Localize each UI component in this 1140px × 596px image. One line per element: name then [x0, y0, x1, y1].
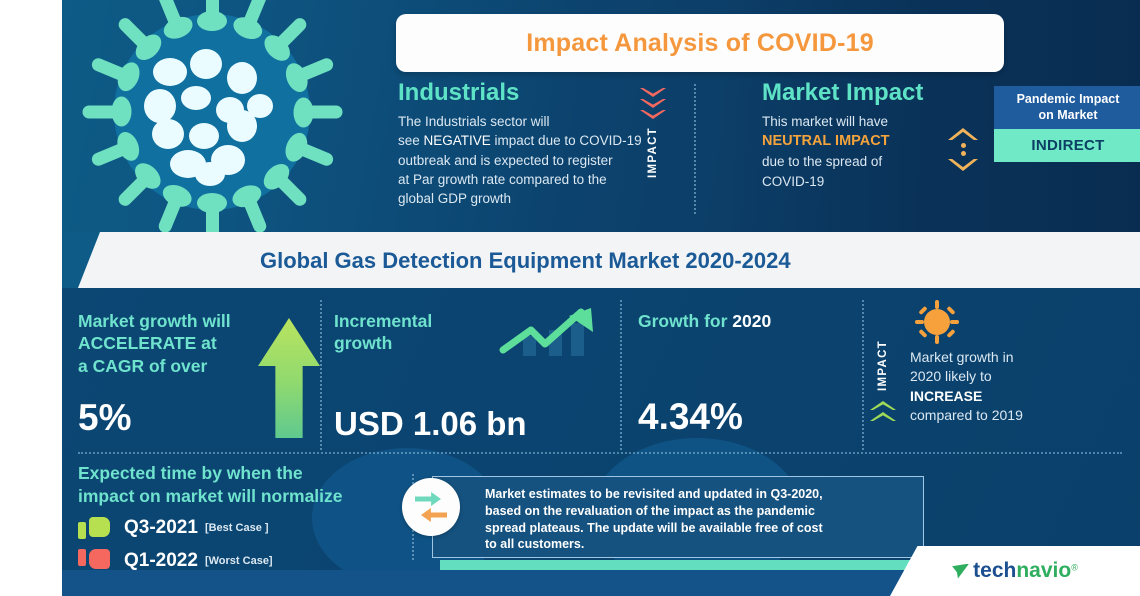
virus-spike — [293, 140, 335, 167]
stat-growth-value: 4.34% — [638, 398, 888, 435]
impact-note-line-4: compared to 2019 — [910, 406, 1120, 425]
virus-spike — [240, 0, 267, 31]
virus-dot — [227, 62, 257, 94]
normalize-row-best: Q3-2021 [Best Case ] — [78, 515, 343, 541]
stat-growth-line-1: Growth for — [638, 311, 732, 331]
normalize-best-case: [Best Case ] — [205, 522, 269, 534]
impact-note-block: Market growth in 2020 likely to INCREASE… — [910, 348, 1120, 425]
virus-spike — [89, 140, 131, 167]
virus-spike — [156, 193, 183, 235]
stat-cagr-line-1: Market growth will — [78, 310, 308, 332]
virus-spike — [89, 56, 131, 83]
impact-strip-bottom: IMPACT — [870, 340, 896, 421]
note-box: Market estimates to be revisited and upd… — [432, 476, 924, 558]
stat-cagr: Market growth will ACCELERATE at a CAGR … — [78, 310, 308, 436]
virus-spike — [82, 106, 122, 119]
virus-spike — [156, 0, 183, 31]
virus-spike — [302, 106, 342, 119]
note-panel: Market estimates to be revisited and upd… — [432, 476, 924, 558]
brand-trademark: ® — [1071, 563, 1078, 573]
thumbs-up-icon — [78, 515, 110, 541]
impact-strip-top: IMPACT — [640, 88, 666, 178]
pandemic-impact-title-2: on Market — [998, 108, 1138, 124]
industrials-line-2a: see — [398, 133, 424, 148]
refresh-cycle-icon — [402, 478, 460, 536]
note-line-3: spread plateaus. The update will be avai… — [485, 521, 823, 535]
brand-part-1: tech — [973, 559, 1016, 582]
impact-label-top: IMPACT — [647, 127, 659, 178]
pandemic-impact-title: Pandemic Impact on Market — [994, 86, 1140, 129]
impact-note-increase: INCREASE — [910, 387, 1120, 406]
note-line-4: to all customers. — [485, 537, 584, 551]
impact-note-line-2: 2020 likely to — [910, 367, 1120, 386]
technavio-mark — [952, 564, 969, 579]
virus-spike — [115, 15, 152, 52]
horizontal-divider — [78, 452, 1122, 454]
industrials-line-5: global GDP growth — [398, 189, 698, 208]
virus-dot — [195, 162, 225, 186]
virus-spike — [206, 0, 219, 22]
normalize-worst-case: [Worst Case] — [205, 555, 273, 567]
report-title: Global Gas Detection Equipment Market 20… — [260, 248, 791, 274]
page-title-text: Impact Analysis of COVID-19 — [526, 29, 874, 58]
virus-spike — [115, 171, 152, 208]
virus-dot — [144, 89, 176, 123]
brand-part-2: navio — [1016, 559, 1071, 582]
virus-spike — [293, 56, 335, 83]
divider-2 — [620, 300, 622, 450]
industrials-line-2c: impact due to COVID-19 — [491, 133, 642, 148]
divider-3 — [862, 300, 864, 450]
divider-hero — [694, 84, 696, 214]
chevron-down-icon — [640, 88, 666, 121]
virus-dot — [189, 123, 219, 149]
pandemic-impact-title-1: Pandemic Impact — [998, 92, 1138, 108]
virus-spike — [240, 193, 267, 235]
impact-label-bottom: IMPACT — [877, 340, 889, 391]
up-down-arrows-icon — [948, 128, 978, 171]
virus-spike — [271, 171, 308, 208]
pandemic-impact-value: INDIRECT — [994, 129, 1140, 162]
virus-dot — [181, 86, 211, 110]
stat-incremental-value: USD 1.06 bn — [334, 407, 564, 440]
industrials-negative: NEGATIVE — [424, 133, 491, 148]
page-title: Impact Analysis of COVID-19 — [396, 14, 1004, 72]
note-text: Market estimates to be revisited and upd… — [433, 477, 923, 553]
virus-dot — [152, 119, 184, 149]
normalize-block: Expected time by when the impact on mark… — [78, 462, 343, 574]
divider-1 — [320, 300, 322, 450]
stat-growth-year: 2020 — [732, 311, 771, 331]
normalize-line-1: Expected time by when the — [78, 462, 343, 485]
coronavirus-icon — [62, 0, 362, 262]
virus-dot — [190, 49, 222, 79]
impact-note-body: Market growth in 2020 likely to INCREASE… — [910, 348, 1120, 425]
note-line-1: Market estimates to be revisited and upd… — [485, 487, 823, 501]
note-line-2: based on the revaluation of the impact a… — [485, 504, 815, 518]
stat-growth-heading: Growth for 2020 — [638, 310, 888, 332]
normalize-worst-quarter: Q1-2022 — [124, 550, 198, 572]
stat-cagr-value: 5% — [78, 399, 308, 436]
technavio-wordmark: technavio® — [973, 559, 1078, 583]
technavio-logo-icon[interactable]: technavio® — [890, 546, 1140, 596]
coronavirus-badge-icon — [915, 300, 959, 344]
market-impact-line-4: COVID-19 — [762, 172, 982, 191]
impact-note-line-1: Market growth in — [910, 348, 1120, 367]
virus-dot — [153, 58, 187, 86]
normalize-heading: Expected time by when the impact on mark… — [78, 462, 343, 508]
normalize-best-quarter: Q3-2021 — [124, 517, 198, 539]
market-impact-heading: Market Impact — [762, 80, 982, 105]
report-title-band: Global Gas Detection Equipment Market 20… — [62, 232, 1140, 288]
stat-growth-2020: Growth for 2020 4.34% — [638, 310, 888, 435]
infographic-canvas: Impact Analysis of COVID-19 Industrials … — [0, 0, 1140, 596]
virus-spike — [271, 15, 308, 52]
trend-up-chart-icon — [497, 306, 601, 362]
chevron-up-icon — [870, 399, 896, 421]
virus-dot — [247, 94, 273, 118]
normalize-line-2: impact on market will normalize — [78, 485, 343, 508]
hero-band: Impact Analysis of COVID-19 Industrials … — [62, 0, 1140, 232]
pandemic-impact-box: Pandemic Impact on Market INDIRECT — [994, 86, 1140, 162]
